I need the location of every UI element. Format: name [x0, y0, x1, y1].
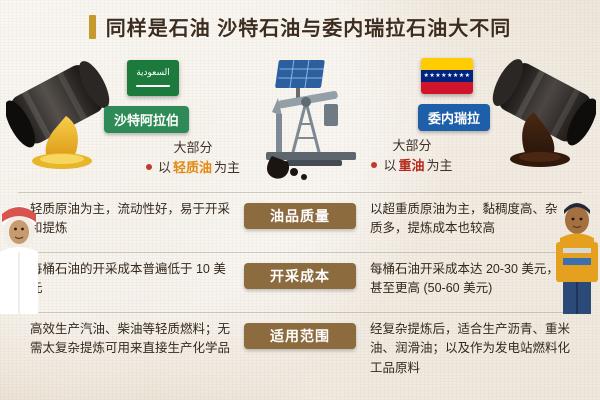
left-row-cost: 每桶石油的开采成本普遍低于 10 美元 [30, 260, 230, 299]
country-label-saudi: 沙特阿拉伯 [104, 106, 189, 133]
venezuela-flag-stripe-red [421, 82, 473, 94]
left-row-usage: 高效生产汽油、柴油等轻质燃料；无需太复杂提炼可用来直接生产化学品 [30, 320, 235, 359]
saudi-flag-sword [136, 85, 170, 87]
right-row-quality: 以超重质原油为主，黏稠度高、杂质多，提炼成本也较高 [370, 200, 565, 239]
bullet-dot-icon [371, 162, 377, 168]
title-accent-bar [89, 15, 96, 39]
left-headline: 大部分 以 轻质油 为主 [128, 138, 258, 177]
saudi-man-icon [0, 196, 40, 314]
right-headline: 大部分 以 重油 为主 [346, 136, 478, 175]
venezuelan-worker-icon [554, 192, 600, 314]
right-headline-emphasis: 重油 [398, 156, 424, 176]
oil-barrel-pouring-heavy-icon [476, 58, 596, 170]
category-label-cost: 开采成本 [244, 263, 356, 289]
left-headline-prefix: 以 [158, 158, 171, 178]
right-row-usage: 经复杂提炼后，适合生产沥青、重米油、润滑油；以及作为发电站燃料化工品原料 [370, 320, 570, 378]
divider-top [18, 192, 582, 193]
venezuela-flag-stripe-blue: ★★★★★★★★ [421, 70, 473, 82]
left-headline-suffix: 为主 [214, 158, 240, 178]
category-label-usage: 适用范围 [244, 323, 356, 349]
right-row-cost: 每桶石油开采成本达 20-30 美元，甚至更高 (50-60 美元) [370, 260, 565, 299]
divider-middle [18, 252, 582, 253]
right-headline-prefix: 以 [383, 156, 396, 176]
left-headline-line2: 以 轻质油 为主 [128, 158, 258, 178]
category-label-quality: 油品质量 [244, 203, 356, 229]
left-row-quality: 轻质原油为主，流动性好，易于开采和提炼 [30, 200, 230, 239]
page-title: 同样是石油 沙特石油与委内瑞拉石油大不同 [106, 12, 512, 41]
venezuela-flag-stars: ★★★★★★★★ [421, 71, 473, 81]
saudi-flag-script: السعودية [127, 68, 179, 78]
divider-bottom [18, 312, 582, 313]
left-headline-line1: 大部分 [128, 138, 258, 158]
right-headline-line1: 大部分 [346, 136, 478, 156]
country-label-venezuela: 委内瑞拉 [418, 104, 490, 131]
venezuela-flag: ★★★★★★★★ [421, 58, 473, 94]
saudi-arabia-flag: السعودية [127, 60, 179, 96]
bullet-dot-icon [146, 164, 152, 170]
title-bar-row: 同样是石油 沙特石油与委内瑞拉石油大不同 [0, 12, 600, 41]
right-headline-suffix: 为主 [427, 156, 453, 176]
infographic-root: 同样是石油 沙特石油与委内瑞拉石油大不同 [0, 0, 600, 400]
left-headline-emphasis: 轻质油 [173, 158, 212, 178]
venezuela-flag-stripe-yellow [421, 58, 473, 70]
right-headline-line2: 以 重油 为主 [346, 156, 478, 176]
